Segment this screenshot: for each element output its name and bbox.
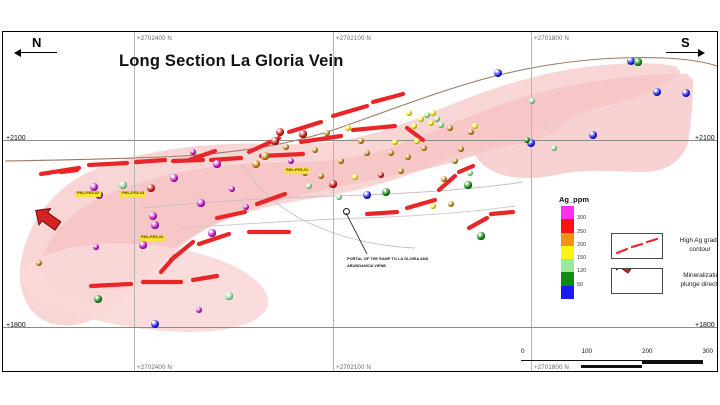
scale-bar-segment	[642, 361, 703, 364]
legend-plunge-swatch-box	[611, 268, 663, 294]
legend: Ag_ppm 30025020015012050 High Ag grade c…	[531, 195, 715, 295]
colorbar-tick-label: 300	[577, 215, 586, 221]
ag-ppm-colorbar	[561, 206, 574, 299]
colorbar-band	[561, 272, 574, 285]
annotation-leader-line	[346, 213, 367, 254]
portal-annotation-line1: PORTAL OF THE RAMP TO LA GLORIA AND	[347, 256, 428, 262]
portal-annotation-line2: ABUNDANCIA VIENE.	[347, 263, 387, 269]
colorbar-band	[561, 219, 574, 232]
scale-bar-tick-label: 100	[582, 348, 593, 355]
colorbar-tick-label: 200	[577, 242, 586, 248]
colorbar-band	[561, 286, 574, 299]
colorbar-band	[561, 259, 574, 272]
colorbar-tick-label: 120	[577, 268, 586, 274]
legend-contour-label-line1: High Ag grade	[667, 237, 718, 246]
legend-contour-swatch-box	[611, 233, 663, 259]
colorbar-tick-label: 50	[577, 282, 583, 288]
colorbar-band	[561, 246, 574, 259]
map-plate: +2702400 N +2702100 N +2701800 N +270240…	[2, 31, 718, 372]
screenshot-root: +2702400 N +2702100 N +2701800 N +270240…	[0, 0, 720, 405]
scale-bar-tick-label: 0	[521, 348, 525, 355]
legend-contour-label-line2: contour	[667, 246, 718, 255]
scale-bar-tick-label: 200	[642, 348, 653, 355]
colorbar-band	[561, 233, 574, 246]
colorbar-tick-label: 150	[577, 255, 586, 261]
legend-plunge-label-line1: Mineralization	[667, 272, 718, 281]
colorbar-band	[561, 206, 574, 219]
scale-bar-segment	[581, 365, 642, 368]
scale-bar-tick-label: 300	[703, 348, 714, 355]
colorbar-tick-label: 250	[577, 229, 586, 235]
legend-ag-title: Ag_ppm	[559, 195, 589, 204]
legend-plunge-icon	[612, 269, 662, 293]
legend-contour-icon	[612, 234, 662, 258]
legend-plunge-label-line2: plunge direction	[667, 281, 718, 290]
